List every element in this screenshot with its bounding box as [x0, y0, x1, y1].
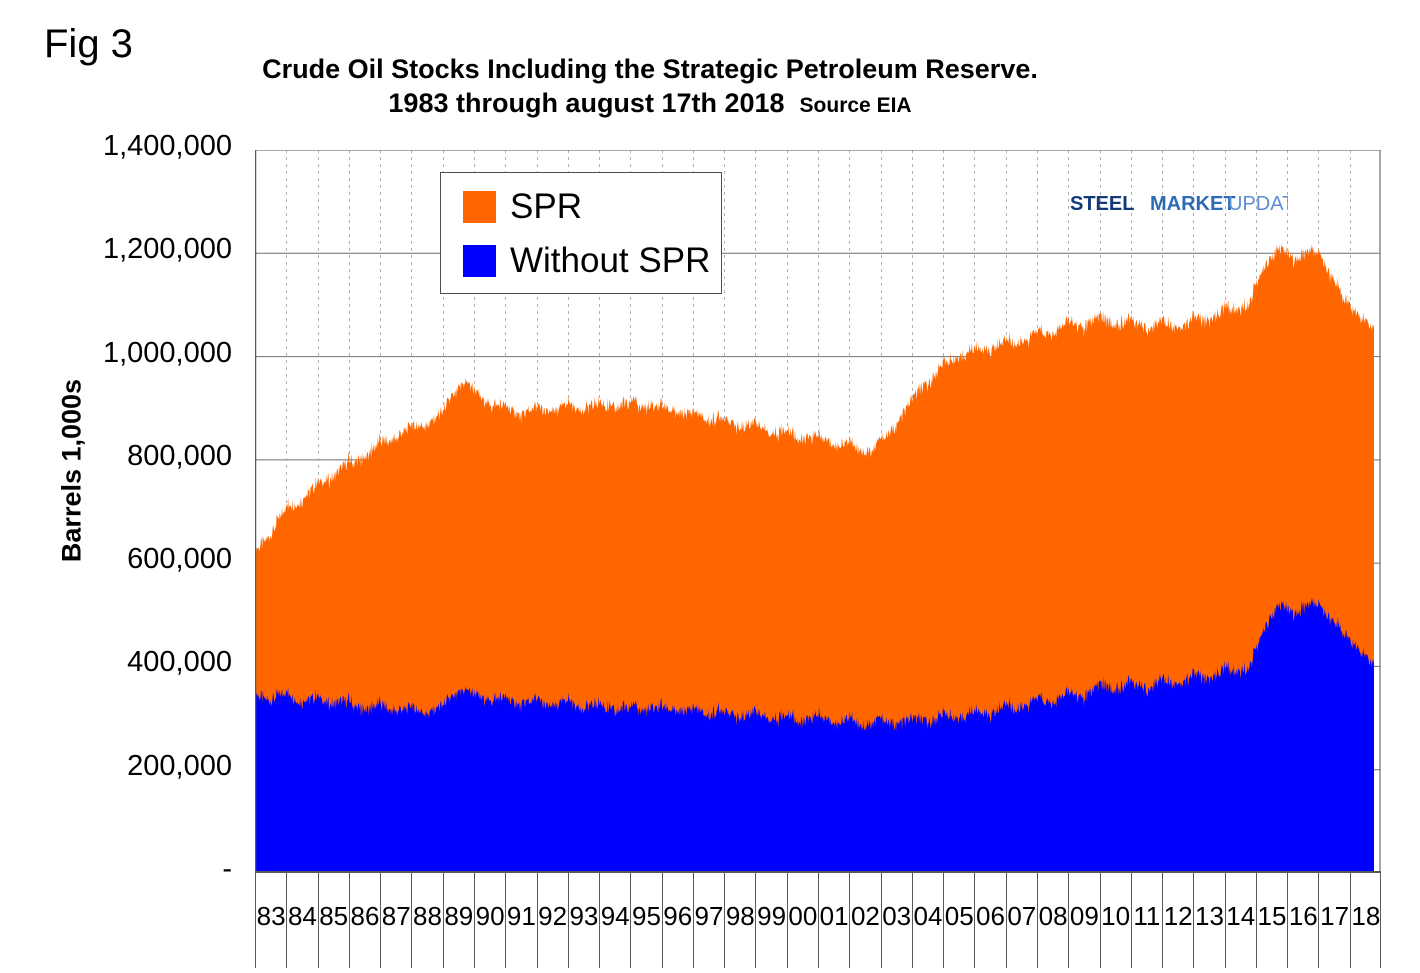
x-axis-tick-label: 13 — [1194, 901, 1224, 932]
legend-label-without-spr: Without SPR — [510, 243, 710, 278]
x-axis-tick-97: 97 — [693, 873, 724, 968]
steel-market-update-logo: STEEL MARKET UPDATE — [1066, 178, 1288, 228]
x-axis-tick-84: 84 — [286, 873, 317, 968]
x-axis-tick-label: 94 — [600, 901, 630, 932]
x-axis-tick-93: 93 — [568, 873, 599, 968]
x-axis-tick-label: 92 — [538, 901, 568, 932]
x-axis-tick-label: 88 — [412, 901, 442, 932]
legend-item-without-spr[interactable]: Without SPR — [463, 243, 710, 278]
x-axis-tick-87: 87 — [380, 873, 411, 968]
x-axis-tick-label: 09 — [1069, 901, 1099, 932]
x-axis-tick-11: 11 — [1131, 873, 1162, 968]
x-axis-tick-94: 94 — [599, 873, 630, 968]
x-axis-tick-label: 04 — [913, 901, 943, 932]
plot-area — [255, 150, 1381, 873]
chart-title-line-2: 1983 through august 17th 2018 Source EIA — [200, 86, 1100, 123]
chart-title: Crude Oil Stocks Including the Strategic… — [200, 52, 1100, 123]
x-axis-tick-label: 89 — [444, 901, 474, 932]
x-axis-tick-08: 08 — [1037, 873, 1068, 968]
x-axis-tick-99: 99 — [755, 873, 786, 968]
x-axis-tick-label: 18 — [1351, 901, 1381, 932]
x-axis-tick-92: 92 — [537, 873, 568, 968]
x-axis-tick-label: 95 — [631, 901, 661, 932]
x-axis-tick-13: 13 — [1193, 873, 1224, 968]
y-axis-tick-label: 1,000,000 — [22, 337, 232, 370]
logo-svg: STEEL MARKET UPDATE — [1066, 178, 1288, 228]
chart-source-label: Source EIA — [800, 94, 912, 117]
x-axis-tick-label: 98 — [725, 901, 755, 932]
x-axis-tick-label: 00 — [788, 901, 818, 932]
legend-item-spr[interactable]: SPR — [463, 189, 582, 224]
x-axis: 8384858687888990919293949596979899000102… — [255, 873, 1381, 973]
y-axis-tick-label: - — [22, 853, 232, 886]
x-axis-tick-02: 02 — [849, 873, 880, 968]
x-axis-tick-05: 05 — [943, 873, 974, 968]
x-axis-tick-label: 02 — [850, 901, 880, 932]
logo-text-update: UPDATE — [1228, 193, 1288, 215]
y-axis-tick-label: 400,000 — [22, 646, 232, 679]
x-axis-tick-03: 03 — [881, 873, 912, 968]
x-axis-tick-83: 83 — [255, 873, 286, 968]
x-axis-tick-label: 11 — [1132, 901, 1162, 932]
x-axis-tick-label: 86 — [350, 901, 380, 932]
x-axis-tick-label: 10 — [1101, 901, 1131, 932]
legend-swatch-without-spr — [463, 245, 496, 277]
x-axis-tick-label: 87 — [381, 901, 411, 932]
y-axis-tick-label: 1,200,000 — [22, 233, 232, 266]
logo-text-steel: STEEL — [1070, 193, 1134, 215]
x-axis-tick-06: 06 — [974, 873, 1005, 968]
x-axis-tick-label: 83 — [256, 901, 286, 932]
x-axis-tick-label: 85 — [319, 901, 349, 932]
x-axis-tick-04: 04 — [912, 873, 943, 968]
y-axis-tick-label: 800,000 — [22, 440, 232, 473]
legend-swatch-spr — [463, 191, 496, 223]
x-axis-tick-label: 05 — [944, 901, 974, 932]
x-axis-tick-88: 88 — [411, 873, 442, 968]
x-axis-tick-label: 01 — [819, 901, 849, 932]
x-axis-tick-label: 14 — [1226, 901, 1256, 932]
x-axis-tick-90: 90 — [474, 873, 505, 968]
x-axis-tick-18: 18 — [1350, 873, 1381, 968]
x-axis-tick-07: 07 — [1006, 873, 1037, 968]
x-axis-tick-01: 01 — [818, 873, 849, 968]
x-axis-tick-91: 91 — [505, 873, 536, 968]
x-axis-tick-85: 85 — [318, 873, 349, 968]
x-axis-tick-12: 12 — [1162, 873, 1193, 968]
x-axis-tick-label: 96 — [663, 901, 693, 932]
x-axis-tick-label: 15 — [1257, 901, 1287, 932]
x-axis-tick-label: 90 — [475, 901, 505, 932]
x-axis-tick-14: 14 — [1225, 873, 1256, 968]
x-axis-tick-label: 97 — [694, 901, 724, 932]
x-axis-tick-label: 91 — [506, 901, 536, 932]
y-axis-tick-labels: -200,000400,000600,000800,0001,000,0001,… — [0, 0, 232, 973]
x-axis-tick-label: 99 — [756, 901, 786, 932]
x-axis-tick-label: 17 — [1319, 901, 1349, 932]
x-axis-tick-label: 16 — [1288, 901, 1318, 932]
x-axis-tick-label: 06 — [975, 901, 1005, 932]
chart-svg — [255, 150, 1381, 873]
x-axis-tick-98: 98 — [724, 873, 755, 968]
x-axis-tick-label: 03 — [882, 901, 912, 932]
x-axis-tick-label: 07 — [1007, 901, 1037, 932]
x-axis-tick-00: 00 — [787, 873, 818, 968]
logo-text-market: MARKET — [1150, 193, 1236, 215]
x-axis-tick-label: 93 — [569, 901, 599, 932]
x-axis-tick-95: 95 — [630, 873, 661, 968]
chart-title-line-2-text: 1983 through august 17th 2018 — [388, 88, 784, 118]
x-axis-tick-label: 12 — [1163, 901, 1193, 932]
y-axis-tick-label: 1,400,000 — [22, 130, 232, 163]
x-axis-tick-09: 09 — [1068, 873, 1099, 968]
x-axis-tick-15: 15 — [1256, 873, 1287, 968]
x-axis-tick-10: 10 — [1100, 873, 1131, 968]
chart-legend[interactable]: SPR Without SPR — [440, 172, 722, 294]
x-axis-tick-label: 84 — [287, 901, 317, 932]
x-axis-tick-89: 89 — [443, 873, 474, 968]
x-axis-tick-86: 86 — [349, 873, 380, 968]
y-axis-tick-label: 200,000 — [22, 750, 232, 783]
y-axis-tick-label: 600,000 — [22, 543, 232, 576]
x-axis-tick-17: 17 — [1318, 873, 1349, 968]
x-axis-tick-label: 08 — [1038, 901, 1068, 932]
x-axis-tick-16: 16 — [1287, 873, 1318, 968]
x-axis-tick-96: 96 — [662, 873, 693, 968]
legend-label-spr: SPR — [510, 189, 582, 224]
chart-title-line-1: Crude Oil Stocks Including the Strategic… — [200, 52, 1100, 86]
